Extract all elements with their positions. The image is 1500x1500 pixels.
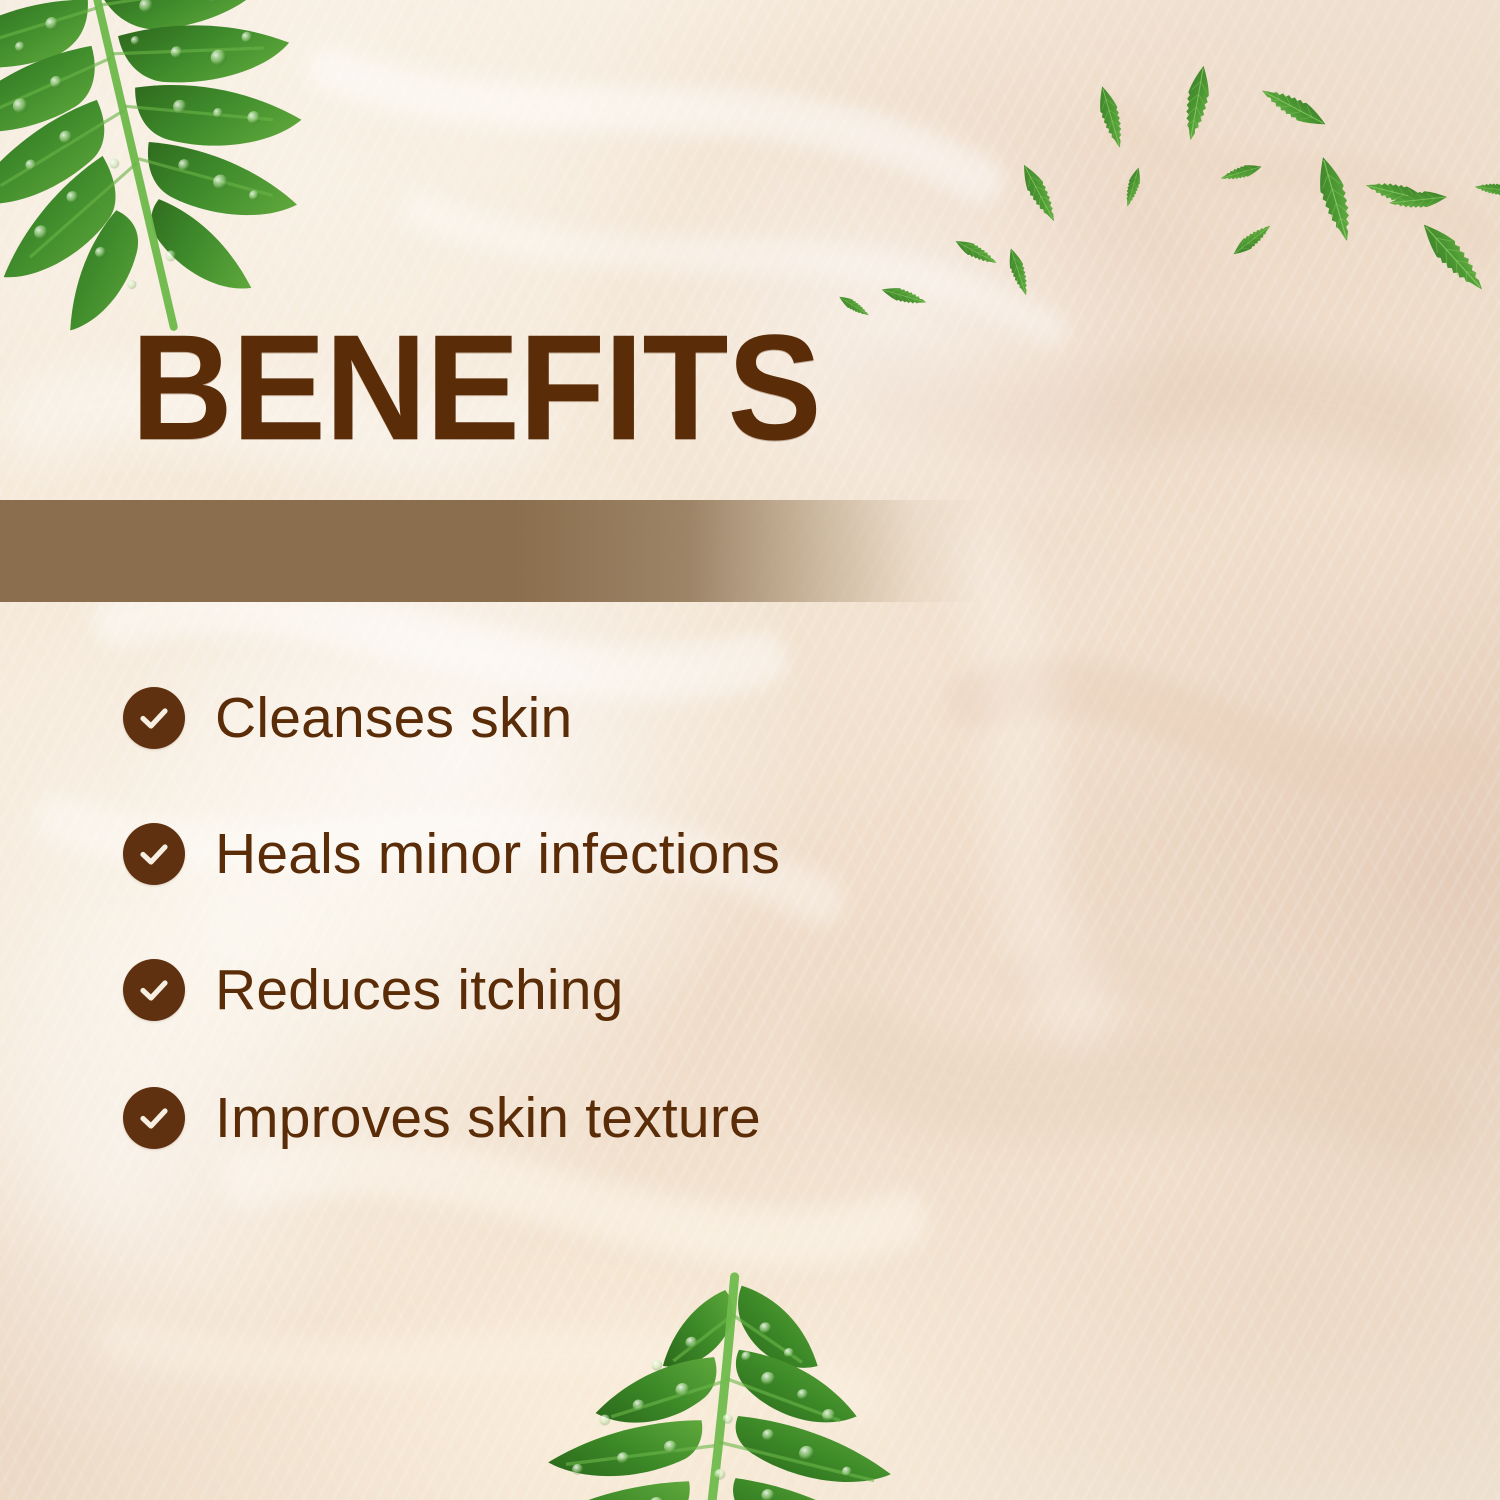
scattered-mint-leaves-icon <box>830 60 1500 330</box>
check-circle-icon <box>123 823 185 885</box>
check-circle-icon <box>123 1087 185 1149</box>
check-circle-icon <box>123 959 185 1021</box>
benefit-label: Improves skin texture <box>215 1090 761 1147</box>
benefit-label: Heals minor infections <box>215 826 780 883</box>
list-item: Improves skin texture <box>123 1087 761 1149</box>
benefit-label: Cleanses skin <box>215 690 572 747</box>
benefit-label: Reduces itching <box>215 962 624 1019</box>
monstera-leaf-icon <box>0 0 328 330</box>
check-circle-icon <box>123 687 185 749</box>
benefits-poster: BENEFITS Cleanses skin Heals minor infec… <box>0 0 1500 1500</box>
list-item: Cleanses skin <box>123 687 572 749</box>
list-item: Heals minor infections <box>123 823 780 885</box>
monstera-leaf-icon <box>480 1262 950 1500</box>
page-title: BENEFITS <box>131 312 821 462</box>
section-divider-bar <box>0 500 985 602</box>
list-item: Reduces itching <box>123 959 624 1021</box>
